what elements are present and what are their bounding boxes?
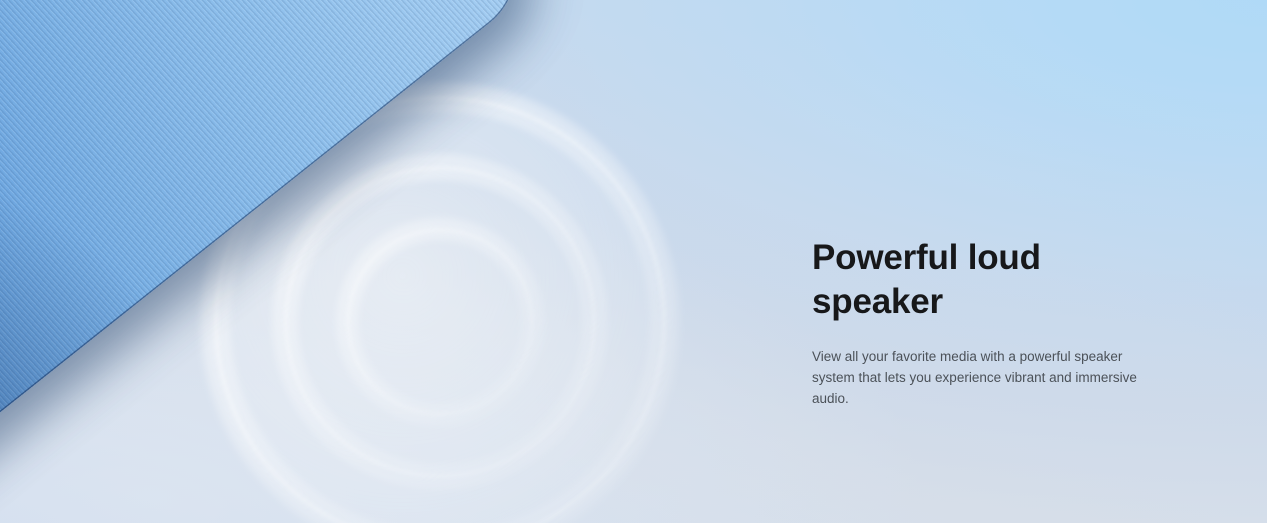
feature-copy-block: Powerful loud speaker View all your favo…	[812, 236, 1162, 409]
hero-banner: Powerful loud speaker View all your favo…	[0, 0, 1267, 523]
feature-headline: Powerful loud speaker	[812, 236, 1072, 324]
feature-description: View all your favorite media with a powe…	[812, 346, 1150, 409]
